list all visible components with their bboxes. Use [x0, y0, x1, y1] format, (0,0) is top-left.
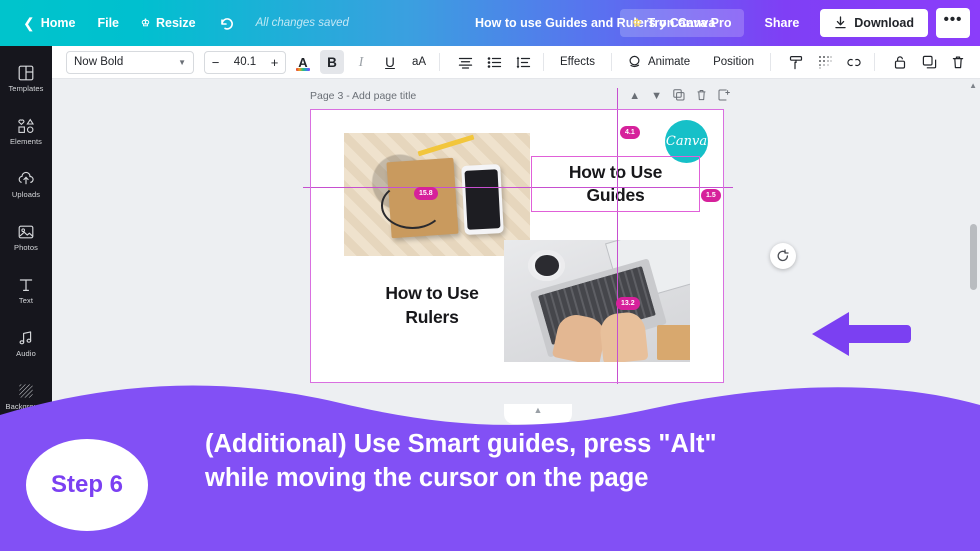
chevron-left-icon: ❮	[23, 15, 35, 32]
toolbar-divider	[611, 53, 612, 71]
underline-label: U	[385, 55, 395, 70]
share-label: Share	[765, 16, 800, 30]
undo-button[interactable]	[207, 10, 246, 37]
left-sidebar: Templates Elements Uploads	[0, 46, 52, 551]
trash-icon	[951, 55, 965, 70]
line-spacing-icon	[516, 56, 531, 69]
download-button[interactable]: Download	[820, 9, 928, 37]
sidebar-label: Background	[5, 402, 46, 411]
page-header: Page 3 - Add page title ▲ ▼	[310, 86, 730, 106]
file-menu-button[interactable]: File	[86, 10, 130, 36]
home-button[interactable]: ❮ Home	[12, 9, 86, 38]
font-size-decrease-button[interactable]: −	[205, 52, 226, 73]
font-family-value: Now Bold	[74, 56, 123, 68]
trash-icon[interactable]	[696, 89, 707, 104]
font-size-stepper[interactable]: − 40.1 +	[204, 51, 286, 74]
delete-button[interactable]	[946, 50, 970, 74]
text-element-how-to-use-rulers[interactable]: How to Use Rulers	[349, 282, 515, 329]
elements-icon	[18, 117, 35, 134]
resize-label: Resize	[156, 16, 196, 30]
selected-textbox-outline[interactable]	[531, 156, 700, 212]
download-label: Download	[854, 16, 914, 30]
phone-shape	[461, 164, 504, 235]
vertical-scrollbar-thumb[interactable]	[970, 224, 977, 290]
badge-bottom-gap: 13.2	[616, 297, 640, 310]
sidebar-item-audio[interactable]: Audio	[0, 317, 52, 370]
file-label: File	[97, 16, 119, 30]
text-T-icon	[18, 276, 34, 293]
text-format-toolbar: Now Bold ▼ − 40.1 + A B I U aA	[52, 46, 980, 79]
chevron-up-icon[interactable]: ▲	[629, 90, 640, 102]
badge-top-gap: 4.1	[620, 126, 640, 139]
rulers-heading-line2: Rulers	[405, 306, 458, 330]
link-button[interactable]	[842, 50, 866, 74]
transparency-button[interactable]	[813, 50, 837, 74]
more-options-button[interactable]: •••	[936, 8, 970, 38]
topbar-right-group: ♔ Try Canva Pro Share Download •••	[620, 0, 970, 46]
sidebar-label: Uploads	[12, 190, 40, 199]
page-title-label[interactable]: Page 3 - Add page title	[310, 90, 416, 102]
audio-note-icon	[18, 329, 34, 346]
right-hand-shape	[598, 311, 647, 362]
paint-roller-icon	[789, 55, 804, 70]
pencil-shape	[417, 135, 474, 157]
uploads-cloud-icon	[17, 170, 35, 187]
text-color-A-icon: A	[298, 57, 307, 68]
sidebar-item-background[interactable]: Background	[0, 370, 52, 423]
top-app-bar: ❮ Home File ♔ Resize All changes saved H…	[0, 0, 980, 46]
animate-label: Animate	[648, 56, 690, 68]
more-dots-icon: •••	[944, 17, 963, 23]
rotate-icon	[776, 249, 790, 263]
sidebar-item-photos[interactable]: Photos	[0, 211, 52, 264]
background-hatch-icon	[18, 382, 34, 399]
try-canva-pro-button[interactable]: ♔ Try Canva Pro	[620, 9, 743, 37]
canva-logo-text: Canva	[666, 134, 707, 149]
text-case-button[interactable]: aA	[407, 50, 431, 74]
home-label: Home	[41, 16, 76, 30]
font-size-input[interactable]: 40.1	[226, 56, 264, 68]
left-arrow-annotation-icon	[807, 309, 911, 359]
animate-icon	[628, 55, 642, 69]
sidebar-item-elements[interactable]: Elements	[0, 105, 52, 158]
lock-button[interactable]	[888, 50, 912, 74]
font-family-select[interactable]: Now Bold ▼	[66, 51, 194, 74]
align-center-icon	[458, 56, 473, 69]
chevron-down-icon[interactable]: ▼	[651, 90, 662, 102]
align-button[interactable]	[453, 50, 477, 74]
italic-button[interactable]: I	[349, 50, 373, 74]
page-tools: ▲ ▼	[629, 89, 730, 104]
line-spacing-button[interactable]	[511, 50, 535, 74]
bold-button[interactable]: B	[320, 50, 344, 74]
underline-button[interactable]: U	[378, 50, 402, 74]
smart-guide-vertical	[617, 88, 618, 384]
toolbar-divider	[543, 53, 544, 71]
toolbar-divider	[770, 53, 771, 71]
phone-screen-shape	[465, 169, 501, 230]
templates-icon	[18, 64, 34, 81]
resize-button[interactable]: ♔ Resize	[130, 10, 207, 36]
share-button[interactable]: Share	[752, 9, 813, 37]
design-page[interactable]: How to Use Guides How to Use Rulers Canv…	[310, 109, 724, 383]
rotate-handle[interactable]	[770, 243, 796, 269]
photos-icon	[18, 223, 34, 240]
topbar-left-group: ❮ Home File ♔ Resize All changes saved	[0, 0, 349, 46]
color-swatch-bar	[296, 68, 310, 71]
try-canva-pro-label: Try Canva Pro	[647, 16, 731, 30]
duplicate-page-icon[interactable]	[673, 89, 685, 104]
copy-style-button[interactable]	[784, 50, 808, 74]
crown-icon: ♔	[141, 18, 150, 29]
rulers-heading-line1: How to Use	[385, 282, 478, 306]
sidebar-label: Photos	[14, 243, 38, 252]
badge-left-gap: 15.8	[414, 187, 438, 200]
bullet-list-button[interactable]	[482, 50, 506, 74]
save-status-label: All changes saved	[246, 17, 349, 29]
sidebar-item-uploads[interactable]: Uploads	[0, 158, 52, 211]
lock-icon	[893, 55, 907, 70]
effects-button[interactable]: Effects	[552, 52, 603, 72]
animate-button[interactable]: Animate	[620, 51, 698, 73]
bullet-list-icon	[487, 56, 502, 69]
sidebar-label: Audio	[16, 349, 36, 358]
laptop-photo[interactable]	[504, 240, 690, 362]
position-button[interactable]: Position	[705, 52, 762, 72]
zoom-level-indicator[interactable]: 50%	[844, 441, 864, 452]
collapse-panel-button[interactable]: ▲	[504, 404, 572, 424]
chevron-up-icon: ▲	[534, 405, 543, 415]
desk-object-shape	[657, 325, 690, 359]
scroll-up-icon[interactable]: ▲	[969, 81, 977, 90]
sidebar-item-templates[interactable]: Templates	[0, 52, 52, 105]
sidebar-label: Text	[19, 296, 33, 305]
chevron-down-icon: ▼	[178, 58, 186, 67]
duplicate-button[interactable]	[917, 50, 941, 74]
add-page-icon[interactable]	[718, 89, 730, 104]
download-icon	[834, 16, 847, 30]
badge-right-gap: 1.5	[701, 189, 721, 202]
crown-icon: ♔	[632, 18, 641, 29]
bold-label: B	[327, 55, 337, 70]
toolbar-divider	[439, 53, 440, 71]
text-color-button[interactable]: A	[291, 50, 315, 74]
sidebar-label: Elements	[10, 137, 42, 146]
case-label: aA	[412, 56, 426, 68]
italic-label: I	[359, 54, 364, 70]
duplicate-icon	[922, 55, 937, 70]
sidebar-item-text[interactable]: Text	[0, 264, 52, 317]
transparency-icon	[818, 55, 833, 70]
editor-canvas-area: Page 3 - Add page title ▲ ▼	[52, 79, 980, 551]
link-icon	[846, 56, 862, 69]
undo-arrow-icon	[218, 16, 235, 31]
font-size-increase-button[interactable]: +	[264, 52, 285, 73]
coffee-cup-shape	[528, 250, 565, 282]
toolbar-divider	[874, 53, 875, 71]
sidebar-label: Templates	[8, 84, 43, 93]
